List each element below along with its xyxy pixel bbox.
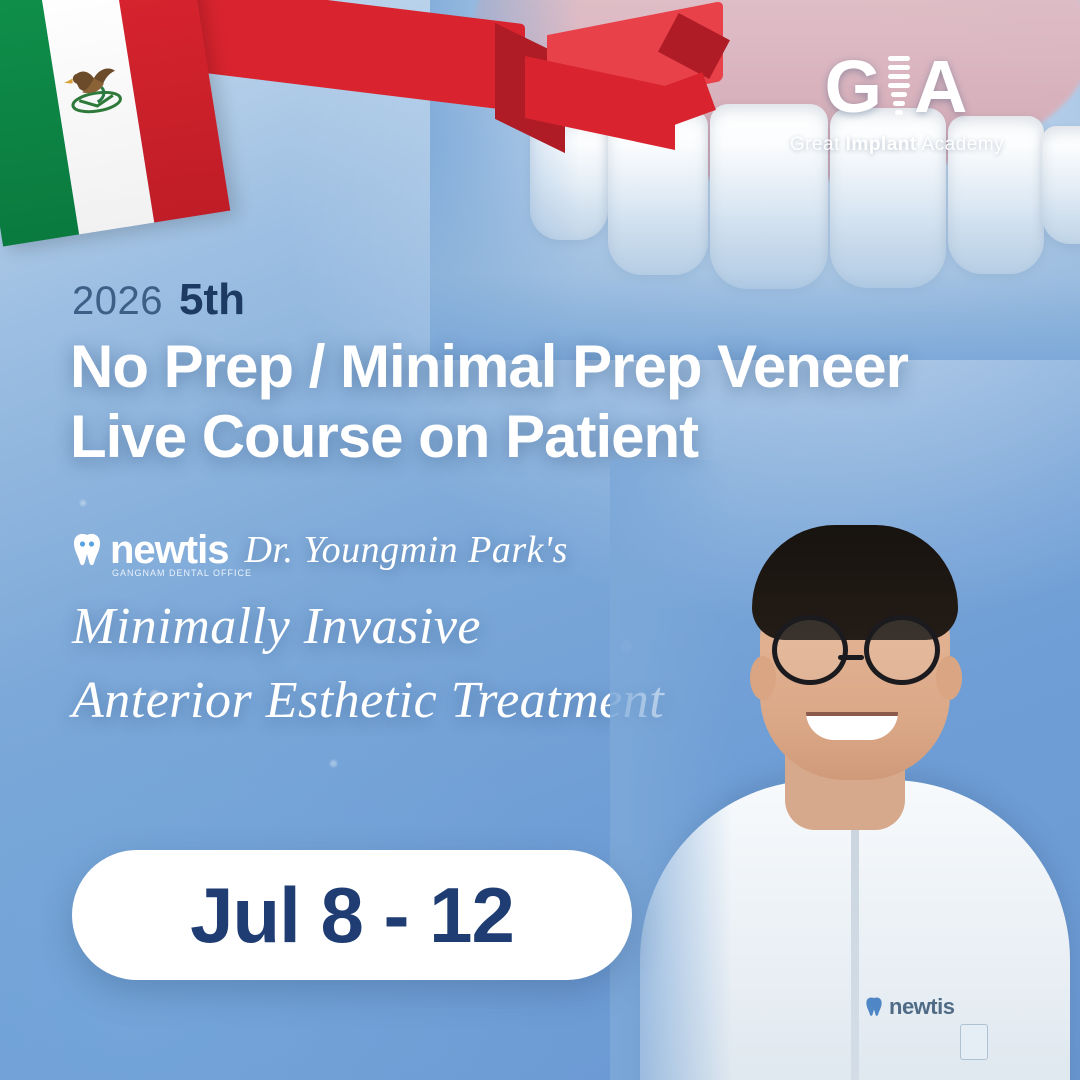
gia-letter-g: G [824, 50, 884, 124]
gia-subtitle-suffix: Academy [917, 134, 1004, 155]
course-subtitle-line-1: Minimally Invasive [72, 590, 664, 664]
mexico-flag-ribbon [0, 0, 750, 240]
gia-subtitle-prefix: Great [790, 134, 846, 155]
bokeh-speck [80, 500, 86, 506]
tooth-icon [72, 533, 102, 567]
presenter-row: newtis GANGNAM DENTAL OFFICE Dr. Youngmi… [72, 528, 568, 572]
kicker-edition: 5th [179, 275, 245, 325]
page-title: No Prep / Minimal Prep Veneer Live Cours… [70, 332, 1030, 471]
course-poster: G A Great Implant Academy 2026 5th No Pr… [0, 0, 1080, 1080]
mexican-flag [0, 0, 230, 246]
kicker-year: 2026 [72, 279, 163, 324]
date-text: Jul 8 - 12 [190, 870, 514, 961]
newtis-logo: newtis GANGNAM DENTAL OFFICE [72, 530, 228, 570]
kicker: 2026 5th [72, 275, 245, 325]
gia-logo: G A Great Implant Academy [772, 50, 1022, 156]
bokeh-speck [330, 760, 337, 767]
gia-subtitle-bold: Implant [846, 134, 917, 155]
date-badge: Jul 8 - 12 [72, 850, 632, 980]
course-subtitle: Minimally Invasive Anterior Esthetic Tre… [72, 590, 664, 738]
newtis-wordmark: newtis [110, 530, 228, 570]
presenter-name: Dr. Youngmin Park's [244, 528, 567, 572]
gia-letter-a: A [914, 50, 969, 124]
mexico-coat-of-arms-icon [53, 49, 135, 120]
course-subtitle-line-2: Anterior Esthetic Treatment [72, 664, 664, 738]
doctor-photo-fade [610, 460, 1080, 1080]
gia-subtitle: Great Implant Academy [772, 134, 1022, 156]
ribbon-tail [195, 0, 725, 171]
gia-wordmark: G A [772, 50, 1022, 124]
dental-implant-screw-icon [888, 54, 910, 120]
title-line-1: No Prep / Minimal Prep Veneer [70, 332, 1030, 402]
doctor-photo: newtis [610, 460, 1080, 1080]
newtis-caption: GANGNAM DENTAL OFFICE [112, 568, 252, 578]
